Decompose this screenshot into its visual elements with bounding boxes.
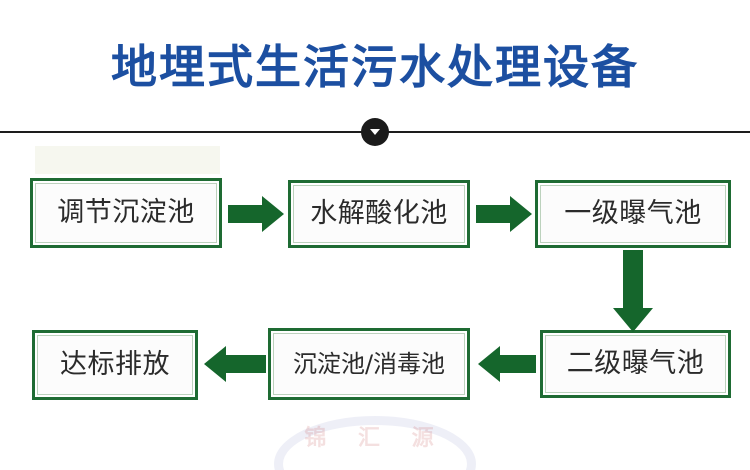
arrow-head [613, 308, 653, 332]
arrow-left-icon [478, 346, 536, 382]
flow-node-label: 一级曝气池 [564, 199, 702, 229]
arrow-shaft [500, 355, 536, 373]
flow-node-label: 水解酸化池 [310, 199, 448, 229]
page-root: 地埋式生活污水处理设备 调节沉淀池 水解酸化池 一级曝气池 二级曝气池 沉淀池/… [0, 0, 750, 470]
chevron-down-glyph [370, 129, 380, 135]
flow-node-frame: 二级曝气池 [545, 335, 726, 393]
arrow-head [204, 346, 226, 382]
flow-node-erji[interactable]: 二级曝气池 [540, 330, 731, 398]
arrow-shaft [476, 205, 512, 223]
flow-node-frame: 达标排放 [37, 335, 193, 395]
page-title: 地埋式生活污水处理设备 [0, 38, 750, 96]
arrow-shaft [226, 355, 266, 373]
flow-node-frame: 水解酸化池 [293, 185, 465, 243]
arrow-head [478, 346, 500, 382]
arrow-right-icon [228, 196, 284, 232]
flow-node-dabiao[interactable]: 达标排放 [32, 330, 198, 400]
arrow-head [510, 196, 532, 232]
chevron-down-icon[interactable] [361, 118, 389, 146]
flow-node-tiaojie[interactable]: 调节沉淀池 [30, 178, 222, 248]
flow-node-yiji[interactable]: 一级曝气池 [535, 180, 731, 248]
flow-node-label: 二级曝气池 [567, 349, 705, 379]
flow-node-frame: 调节沉淀池 [35, 183, 217, 243]
flow-node-label: 调节沉淀池 [57, 198, 195, 228]
background-panel [35, 146, 220, 174]
flow-node-frame: 一级曝气池 [540, 185, 726, 243]
arrow-down-icon [613, 250, 653, 332]
arrow-shaft [228, 205, 264, 223]
watermark-text: 锦 汇 源 [303, 420, 447, 452]
arrow-head [262, 196, 284, 232]
flow-node-label: 沉淀池/消毒池 [293, 349, 445, 379]
flow-node-label: 达标排放 [60, 350, 170, 380]
flow-node-chendian[interactable]: 沉淀池/消毒池 [268, 328, 470, 400]
watermark-ring [274, 416, 476, 470]
arrow-left-icon [204, 346, 266, 382]
arrow-shaft [623, 250, 643, 310]
arrow-right-icon [476, 196, 532, 232]
flow-node-frame: 沉淀池/消毒池 [273, 333, 465, 395]
flow-node-shuijie[interactable]: 水解酸化池 [288, 180, 470, 248]
